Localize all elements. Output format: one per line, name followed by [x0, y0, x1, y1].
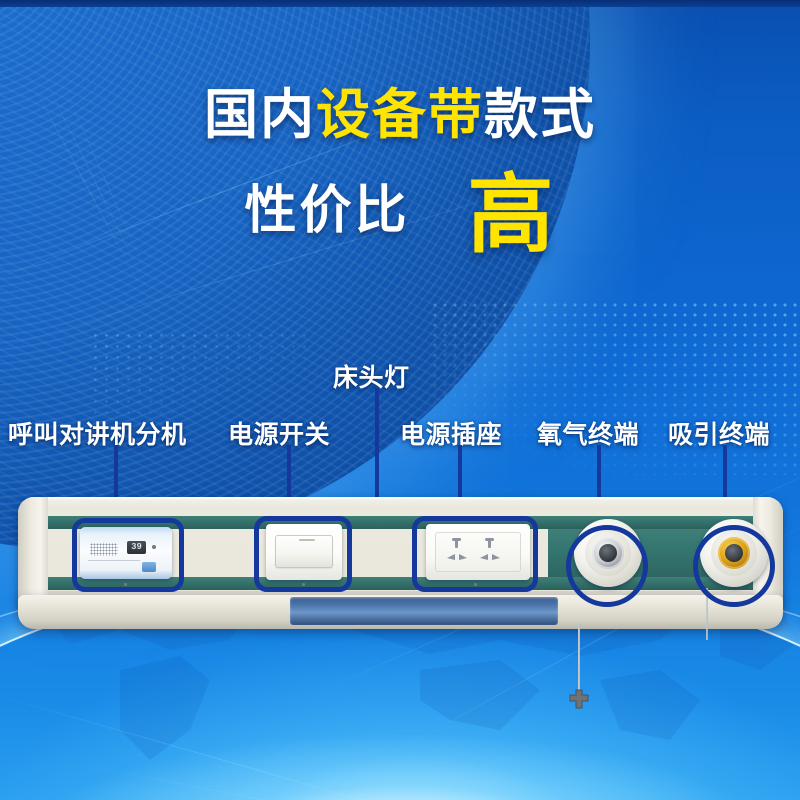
panel-rail-blue-section: [290, 597, 558, 625]
panel-end-cap-left: [18, 497, 48, 609]
highlight-circle-suction: [693, 525, 775, 607]
highlight-box-intercom: [72, 518, 184, 592]
pull-cord-connector-icon[interactable]: [568, 688, 590, 710]
headline-part-1: 国内: [204, 85, 316, 145]
subheadline-left: 性价比: [244, 185, 409, 237]
subheadline: 性价比高: [0, 168, 800, 254]
headline-part-2: 设备带: [316, 85, 484, 145]
poster-canvas: 国内设备带款式 性价比高 呼叫对讲机分机 电源开关 床头灯 电源插座 氧气终端 …: [0, 0, 800, 800]
highlight-circle-oxygen: [566, 525, 648, 607]
headline: 国内设备带款式: [0, 88, 800, 142]
highlight-box-socket: [412, 516, 538, 592]
callout-label-oxygen: 氧气终端: [537, 415, 639, 451]
highlight-box-switch: [254, 516, 352, 592]
subheadline-right: 高: [468, 172, 556, 258]
callout-label-socket: 电源插座: [400, 415, 502, 451]
top-band: [0, 0, 800, 7]
callout-label-bed-lamp: 床头灯: [333, 358, 410, 394]
callout-label-switch: 电源开关: [228, 415, 330, 451]
headline-part-3: 款式: [484, 85, 596, 145]
bed-lamp-pull-cord[interactable]: [578, 624, 580, 698]
callout-label-suction: 吸引终端: [668, 415, 770, 451]
callout-label-intercom: 呼叫对讲机分机: [8, 415, 187, 451]
